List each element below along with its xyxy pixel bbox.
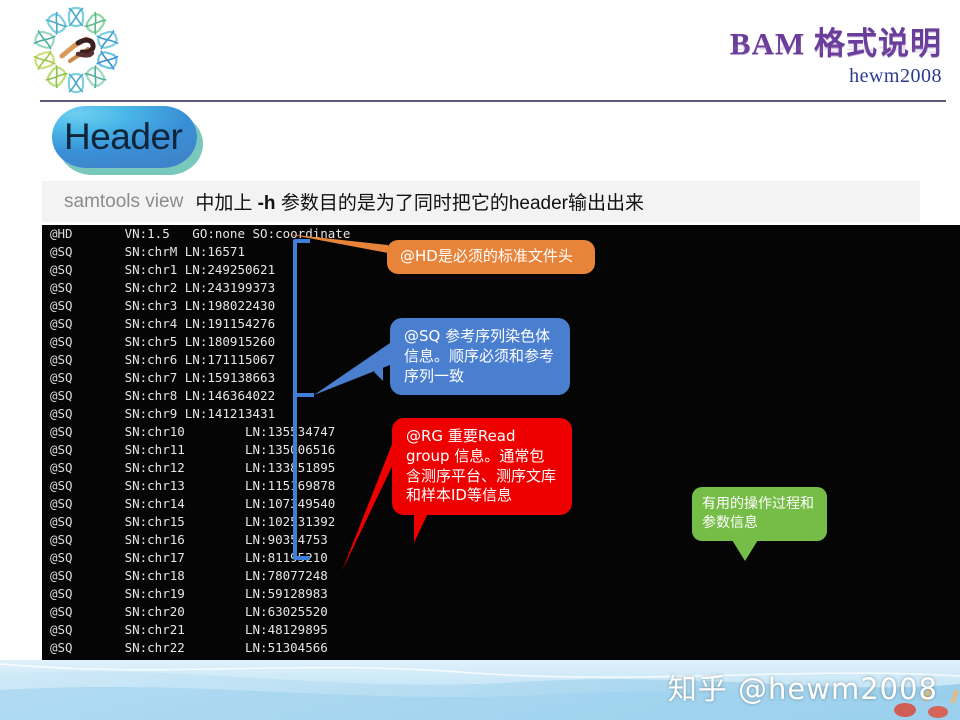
flag-h-text: -h — [258, 193, 276, 214]
terminal-line-content: SN:chr21 LN:48129895 — [102, 621, 328, 639]
page-title: BAM 格式说明 BAM 格式说明 hewm2008 — [730, 28, 942, 86]
terminal-line-content: SN:chr10 LN:135534747 — [102, 423, 335, 441]
pg-callout: 有用的操作过程和参数信息 — [692, 487, 827, 541]
terminal-line-tag: @SQ — [50, 261, 102, 279]
bottom-wave-decoration: 知乎 @hewm2008 — [0, 660, 960, 720]
rg-callout-tail — [414, 513, 428, 543]
title-reflection: BAM 格式说明 — [730, 46, 942, 53]
terminal-line-sq: @SQ SN:chr19 LN:59128983 — [42, 585, 328, 603]
terminal-line-sq: @SQ SN:chr14 LN:107349540 — [42, 495, 335, 513]
terminal-line-content: SN:chr19 LN:59128983 — [102, 585, 328, 603]
terminal-line-tag: @SQ — [50, 387, 102, 405]
watermark-text: 知乎 @hewm2008 — [668, 666, 938, 708]
terminal-line-content: SN:chrM LN:16571 — [102, 243, 245, 261]
terminal-line-sq: @SQ SN:chr3 LN:198022430 — [42, 297, 275, 315]
terminal-line-tag: @SQ — [50, 243, 102, 261]
terminal-line-tag: @SQ — [50, 423, 102, 441]
pg-callout-text: 有用的操作过程和参数信息 — [702, 496, 814, 531]
terminal-line-tag: @SQ — [50, 297, 102, 315]
terminal-line-sq: @SQ SN:chr9 LN:141213431 — [42, 405, 275, 423]
terminal-line-tag: @SQ — [50, 315, 102, 333]
terminal-line-sq: @SQ SN:chr4 LN:191154276 — [42, 315, 275, 333]
title-main-text: BAM 格式说明 — [730, 28, 942, 59]
terminal-line-sq: @SQ SN:chr21 LN:48129895 — [42, 621, 328, 639]
sq-callout-tail — [374, 363, 383, 381]
terminal-line-tag: @SQ — [50, 351, 102, 369]
terminal-line-tag: @SQ — [50, 459, 102, 477]
terminal-line-tag: @SQ — [50, 513, 102, 531]
terminal-line-tag: @SQ — [50, 405, 102, 423]
terminal-line-sq: @SQ SN:chr10 LN:135534747 — [42, 423, 335, 441]
terminal-line-content: SN:chr6 LN:171115067 — [102, 351, 275, 369]
terminal-line-content: SN:chr3 LN:198022430 — [102, 297, 275, 315]
terminal-line-sq: @SQ SN:chr16 LN:90354753 — [42, 531, 328, 549]
terminal-line-content: SN:chr22 LN:51304566 — [102, 639, 328, 657]
terminal-line-sq: @SQ SN:chr20 LN:63025520 — [42, 603, 328, 621]
terminal-line-content: SN:chr18 LN:78077248 — [102, 567, 328, 585]
section-badge-header: Header — [52, 106, 197, 168]
terminal-line-content: SN:chr5 LN:180915260 — [102, 333, 275, 351]
terminal-line-content: SN:chr1 LN:249250621 — [102, 261, 275, 279]
terminal-line-tag: @SQ — [50, 441, 102, 459]
pg-callout-tail — [732, 540, 758, 561]
terminal-line-content: SN:chr7 LN:159138663 — [102, 369, 275, 387]
terminal-line-tag: @SQ — [50, 549, 102, 567]
terminal-line-tag: @SQ — [50, 531, 102, 549]
terminal-line-sq: @SQ SN:chrM LN:16571 — [42, 243, 245, 261]
terminal-line-tag: @SQ — [50, 603, 102, 621]
terminal-line-content: SN:chr20 LN:63025520 — [102, 603, 328, 621]
command-explanation-text: 中加上 -h 参数目的是为了同时把它的header输出出来 — [195, 188, 644, 215]
terminal-line-content: VN:1.5 GO:none SO:coordinate — [102, 225, 350, 243]
terminal-line-content: SN:chr12 LN:133851895 — [102, 459, 335, 477]
terminal-line-content: SN:chr14 LN:107349540 — [102, 495, 335, 513]
terminal-line-sq: @SQ SN:chr7 LN:159138663 — [42, 369, 275, 387]
title-subtitle: hewm2008 — [730, 66, 942, 86]
terminal-line-content: SN:chr17 LN:81195210 — [102, 549, 328, 567]
section-badge-label: Header — [64, 116, 182, 158]
terminal-line-tag: @SQ — [50, 477, 102, 495]
terminal-line-sq: @SQ SN:chr11 LN:135006516 — [42, 441, 335, 459]
terminal-line-content: SN:chr13 LN:115169878 — [102, 477, 335, 495]
terminal-line-sq: @SQ SN:chr13 LN:115169878 — [42, 477, 335, 495]
header-divider — [40, 100, 946, 102]
terminal-line-content: SN:chr2 LN:243199373 — [102, 279, 275, 297]
terminal-line-content: SN:chr9 LN:141213431 — [102, 405, 275, 423]
terminal-line-tag: @SQ — [50, 279, 102, 297]
terminal-line-tag: @SQ — [50, 369, 102, 387]
terminal-line-sq: @SQ SN:chr5 LN:180915260 — [42, 333, 275, 351]
terminal-line-tag: @SQ — [50, 333, 102, 351]
terminal-line-tag: @SQ — [50, 495, 102, 513]
terminal-line-sq: @SQ SN:chr18 LN:78077248 — [42, 567, 328, 585]
terminal-line-sq: @SQ SN:chr12 LN:133851895 — [42, 459, 335, 477]
terminal-line-tag: @HD — [50, 225, 102, 243]
terminal-line-tag: @SQ — [50, 639, 102, 657]
explanation-suffix: 参数目的是为了同时把它的header输出出来 — [276, 193, 644, 214]
sq-callout: @SQ 参考序列染色体信息。顺序必须和参考序列一致 — [390, 318, 570, 395]
explanation-prefix: 中加上 — [195, 193, 257, 214]
terminal-line-sq: @SQ SN:chr2 LN:243199373 — [42, 279, 275, 297]
command-description-bar: samtools view 中加上 -h 参数目的是为了同时把它的header输… — [42, 181, 920, 222]
rg-callout: @RG 重要Read group 信息。通常包含测序平台、测序文库和样本ID等信… — [392, 418, 572, 515]
terminal-line-content: SN:chr15 LN:102531392 — [102, 513, 335, 531]
terminal-line-sq: @SQ SN:chr8 LN:146364022 — [42, 387, 275, 405]
terminal-line-content: SN:chr8 LN:146364022 — [102, 387, 275, 405]
sq-callout-text: @SQ 参考序列染色体信息。顺序必须和参考序列一致 — [404, 327, 554, 385]
terminal-line-hd: @HD VN:1.5 GO:none SO:coordinate — [42, 225, 350, 243]
terminal-line-sq: @SQ SN:chr17 LN:81195210 — [42, 549, 328, 567]
dna-circle-pliers-logo — [28, 6, 124, 94]
slide-root: BAM 格式说明 BAM 格式说明 hewm2008 Header samtoo… — [0, 0, 960, 720]
hd-callout: @HD是必须的标准文件头 — [387, 240, 595, 274]
terminal-line-tag: @SQ — [50, 621, 102, 639]
terminal-line-tag: @SQ — [50, 567, 102, 585]
terminal-line-content: SN:chr16 LN:90354753 — [102, 531, 328, 549]
terminal-line-sq: @SQ SN:chr1 LN:249250621 — [42, 261, 275, 279]
terminal-line-tag: @SQ — [50, 585, 102, 603]
terminal-line-content: SN:chr4 LN:191154276 — [102, 315, 275, 333]
terminal-line-sq: @SQ SN:chr6 LN:171115067 — [42, 351, 275, 369]
samtools-command-text: samtools view — [64, 191, 183, 213]
terminal-line-sq: @SQ SN:chr22 LN:51304566 — [42, 639, 328, 657]
rg-callout-text: @RG 重要Read group 信息。通常包含测序平台、测序文库和样本ID等信… — [406, 427, 556, 504]
terminal-line-content: SN:chr11 LN:135006516 — [102, 441, 335, 459]
terminal-line-sq: @SQ SN:chr15 LN:102531392 — [42, 513, 335, 531]
